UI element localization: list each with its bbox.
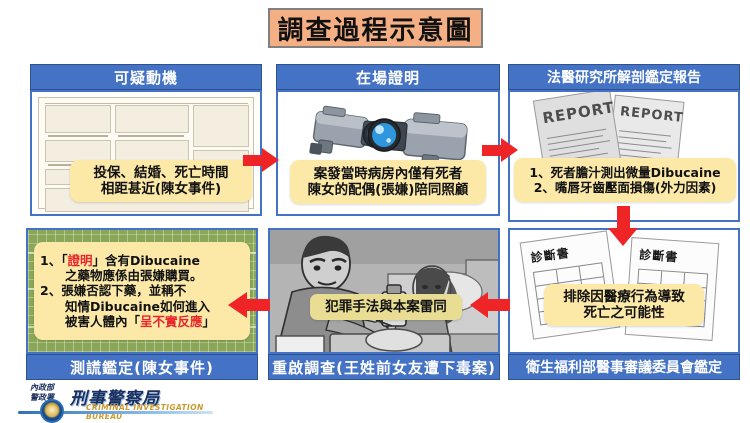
panel-reopen-footer-main: 重啟調查 [272, 357, 336, 378]
callout-motive-line-2: 相距甚近(陳女事件) [101, 181, 221, 197]
panel-presence-header-text: 在場證明 [356, 67, 420, 88]
callout-reopen-line-1: 犯罪手法與本案雷同 [325, 299, 447, 315]
panel-reopen-body [268, 228, 500, 354]
panel-medical-review-footer: 衛生福利部醫事審議委員會鑑定 [508, 354, 740, 380]
callout-reopen: 犯罪手法與本案雷同 [310, 294, 462, 320]
callout-polygraph-line-4: 知情Dibucaine如何進入 [40, 299, 210, 314]
panel-motive: 可疑動機 投保、結婚、死亡時間 相距甚近(陳女事件) [30, 64, 262, 216]
report-label-primary: REPORT [541, 98, 616, 127]
panel-reopen-footer-paren: (王姓前女友遭下毒案) [336, 357, 496, 378]
panel-polygraph-footer-paren: (陳女事件) [134, 357, 214, 378]
hospital-poisoning-artwork [270, 230, 498, 352]
report-label-secondary: REPORT [619, 104, 684, 126]
panel-polygraph: 測謊鑑定(陳女事件) 1、「證明」含有Dibucaine 之藥物應係由張嫌購買。… [26, 228, 258, 380]
panel-reopen-footer: 重啟調查(王姓前女友遭下毒案) [268, 354, 500, 380]
callout-medical-review-line-2: 死亡之可能性 [584, 305, 665, 321]
panel-medical-review-footer-text: 衛生福利部醫事審議委員會鑑定 [526, 357, 722, 377]
callout-presence-line-1: 案發當時病房內僅有死者 [314, 166, 463, 182]
callout-autopsy: 1、死者膽汁測出微量Dibucaine 2、嘴唇牙齒壓面損傷(外力因素) [514, 158, 736, 202]
callout-motive: 投保、結婚、死亡時間 相距甚近(陳女事件) [70, 160, 252, 202]
panel-autopsy: 法醫研究所解剖鑑定報告 REPORT REPORT [508, 64, 740, 222]
panel-polygraph-footer-main: 測謊鑑定 [70, 357, 134, 378]
arrow-medical-review-to-reopen [470, 292, 510, 318]
cib-logo-ministry: 內政部 [30, 383, 54, 393]
diagnosis-label-left: 診斷書 [530, 244, 571, 266]
panel-medical-review: 診斷書 診斷書 [508, 228, 740, 380]
arrow-motive-to-presence [243, 148, 279, 172]
infographic-canvas: 調查過程示意圖 可疑動機 投保、結婚、死亡時 [0, 0, 750, 422]
panel-polygraph-footer: 測謊鑑定(陳女事件) [26, 354, 258, 380]
panel-presence: 在場證明 [276, 64, 500, 216]
panel-motive-header-text: 可疑動機 [114, 67, 178, 88]
callout-motive-line-1: 投保、結婚、死亡時間 [94, 165, 229, 181]
page-title: 調查過程示意圖 [268, 8, 483, 48]
highlight-false-response: 呈不實反應 [140, 314, 203, 329]
callout-presence: 案發當時病房內僅有死者 陳女的配偶(張嫌)陪同照顧 [290, 160, 486, 204]
callout-polygraph-line-3: 2、張嫌否認下藥，並稱不 [40, 283, 186, 298]
panel-reopen: 重啟調查(王姓前女友遭下毒案) 犯罪手法與本案雷同 [268, 228, 500, 380]
callout-medical-review: 排除因醫療行為導致 死亡之可能性 [544, 284, 704, 326]
callout-polygraph-line-1: 1、「證明」含有Dibucaine [40, 253, 200, 268]
cib-emblem-icon [40, 399, 64, 423]
panel-autopsy-header-text: 法醫研究所解剖鑑定報告 [547, 67, 701, 87]
panel-motive-header: 可疑動機 [30, 64, 262, 90]
callout-presence-line-2: 陳女的配偶(張嫌)陪同照顧 [308, 182, 469, 198]
highlight-zhengming: 證明 [67, 253, 92, 268]
arrow-autopsy-to-medical-review [608, 206, 638, 246]
diagnosis-label-right: 診斷書 [639, 246, 679, 266]
callout-autopsy-line-2: 2、嘴唇牙齒壓面損傷(外力因素) [534, 180, 717, 195]
callout-polygraph-line-5: 被害人體內「呈不實反應」 [40, 314, 215, 329]
panel-autopsy-header: 法醫研究所解剖鑑定報告 [508, 64, 740, 90]
callout-medical-review-line-1: 排除因醫療行為導致 [563, 289, 685, 305]
arrow-reopen-to-polygraph [228, 292, 270, 318]
callout-autopsy-line-1: 1、死者膽汁測出微量Dibucaine [529, 165, 720, 180]
cib-logo: 內政部 警政署 刑事警察局 CRIMINAL INVESTIGATION BUR… [8, 382, 223, 420]
panel-autopsy-body: REPORT REPORT [508, 90, 740, 222]
panel-presence-header: 在場證明 [276, 64, 500, 90]
arrow-presence-to-autopsy [482, 138, 518, 162]
callout-polygraph: 1、「證明」含有Dibucaine 之藥物應係由張嫌購買。 2、張嫌否認下藥，並… [34, 242, 250, 340]
page-title-text: 調查過程示意圖 [277, 10, 473, 47]
callout-polygraph-line-2: 之藥物應係由張嫌購買。 [40, 268, 203, 283]
